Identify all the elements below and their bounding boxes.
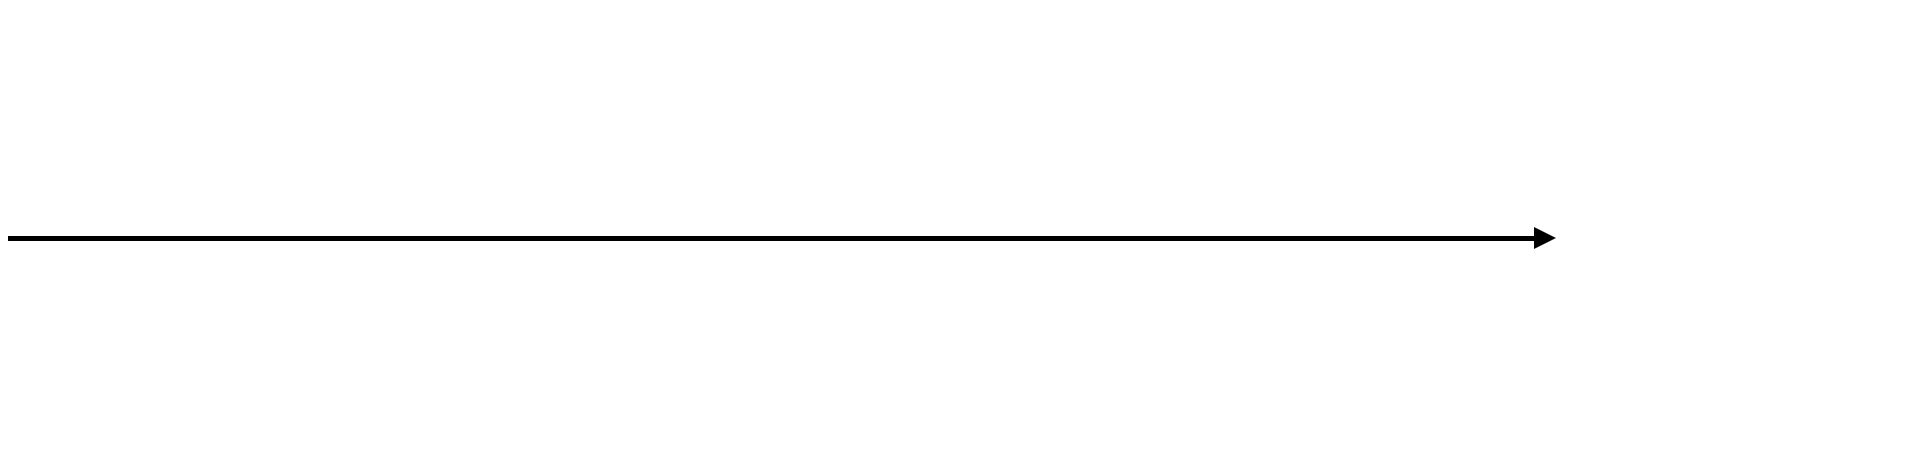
timeline-arrow-icon [1534,227,1556,249]
timeline-figure [0,0,1920,460]
timeline-axis-line [8,236,1536,241]
